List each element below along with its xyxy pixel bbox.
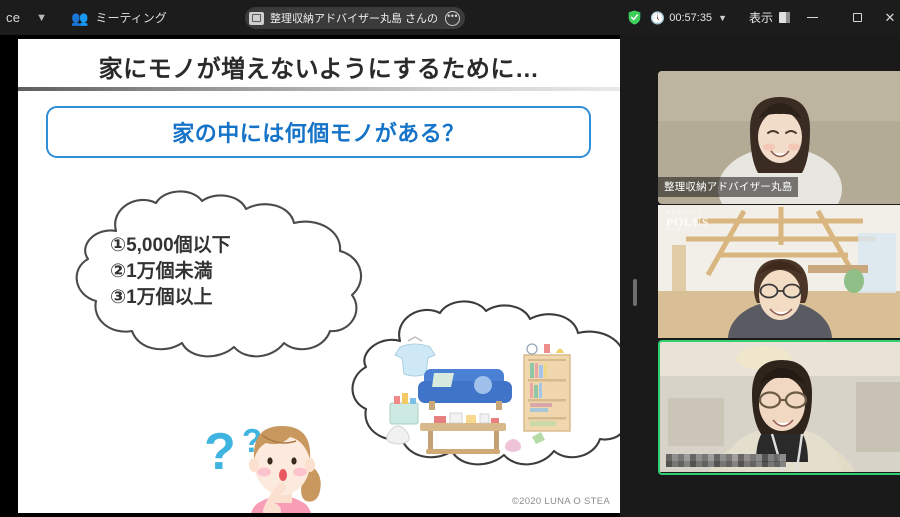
question-callout-box: 家の中には何個モノがある？ xyxy=(46,106,591,158)
polus-watermark-main: POLUS xyxy=(666,216,709,228)
participant-tile-1[interactable]: 整理収納アドバイザー丸島 xyxy=(658,71,900,204)
participant-tile-2[interactable]: ポラスグループ POLUS ポラス xyxy=(658,205,900,338)
shared-screen-stage: 家にモノが増えないようにするために… 家の中には何個モノがある？ ①5,000個… xyxy=(0,35,620,517)
answer-option: ②1万個未満 xyxy=(110,259,360,285)
display-layout-button[interactable]: 表示 xyxy=(749,9,790,26)
chevron-down-icon[interactable]: ▼ xyxy=(718,13,727,23)
meeting-timer[interactable]: 🕔 00:57:35 ▼ xyxy=(650,12,727,24)
participant-name-label: 整理収納アドバイザー丸島 xyxy=(658,177,798,197)
title-bar: ce ▼ 👥 ミーティング 整理収納アドバイザー丸島 さんの ••• 🕔 00:… xyxy=(0,0,900,35)
screen-share-label: 整理収納アドバイザー丸島 さんの xyxy=(270,10,438,26)
panel-resize-handle[interactable] xyxy=(633,279,637,306)
meeting-tab[interactable]: 👥 ミーティング xyxy=(71,9,167,26)
meeting-window: ce ▼ 👥 ミーティング 整理収納アドバイザー丸島 さんの ••• 🕔 00:… xyxy=(0,0,900,517)
answer-option: ③1万個以上 xyxy=(110,285,360,311)
slide-copyright: ©2020 LUNA O STEA xyxy=(512,496,610,507)
participant-name-label-blurred xyxy=(666,454,786,467)
meeting-timer-value: 00:57:35 xyxy=(669,12,712,24)
screen-share-indicator[interactable]: 整理収納アドバイザー丸島 さんの ••• xyxy=(245,7,465,29)
more-options-icon[interactable]: ••• xyxy=(445,11,460,26)
workspace-name[interactable]: ce xyxy=(4,10,20,25)
slide-title: 家にモノが増えないようにするために… xyxy=(18,49,620,84)
participant-video-panel: 整理収納アドバイザー丸島 xyxy=(620,35,900,517)
window-close-button[interactable]: ✕ xyxy=(880,0,900,35)
titlebar-right-group: 🕔 00:57:35 ▼ 表示 ✕ xyxy=(628,0,900,35)
question-callout-text: 家の中には何個モノがある？ xyxy=(172,116,465,148)
window-maximize-button[interactable] xyxy=(835,0,880,35)
title-divider xyxy=(18,87,620,91)
display-layout-label: 表示 xyxy=(749,9,773,26)
answer-option: ①5,000個以下 xyxy=(110,233,360,259)
participant-tile-3[interactable] xyxy=(658,340,900,475)
close-icon: ✕ xyxy=(885,10,896,26)
woman-thinking-illustration xyxy=(206,411,356,513)
clock-icon: 🕔 xyxy=(650,12,665,24)
thought-cloud-options: ①5,000個以下 ②1万個未満 ③1万個以上 xyxy=(58,189,378,364)
thought-cloud-living-room xyxy=(348,297,620,477)
screen-share-icon xyxy=(249,12,264,25)
polus-watermark: ポラスグループ POLUS ポラス xyxy=(666,211,709,232)
people-group-icon: 👥 xyxy=(71,11,88,25)
presentation-slide: 家にモノが増えないようにするために… 家の中には何個モノがある？ ①5,000個… xyxy=(18,39,620,513)
layout-icon xyxy=(779,12,790,23)
meeting-tab-label: ミーティング xyxy=(95,9,166,26)
bookshelf-illustration xyxy=(524,344,570,431)
window-minimize-button[interactable] xyxy=(790,0,835,35)
chevron-down-icon[interactable]: ▼ xyxy=(36,12,47,24)
answer-options-list: ①5,000個以下 ②1万個未満 ③1万個以上 xyxy=(110,233,360,312)
shield-check-icon[interactable] xyxy=(628,10,641,25)
titlebar-left-group: ce ▼ 👥 ミーティング xyxy=(0,0,167,35)
